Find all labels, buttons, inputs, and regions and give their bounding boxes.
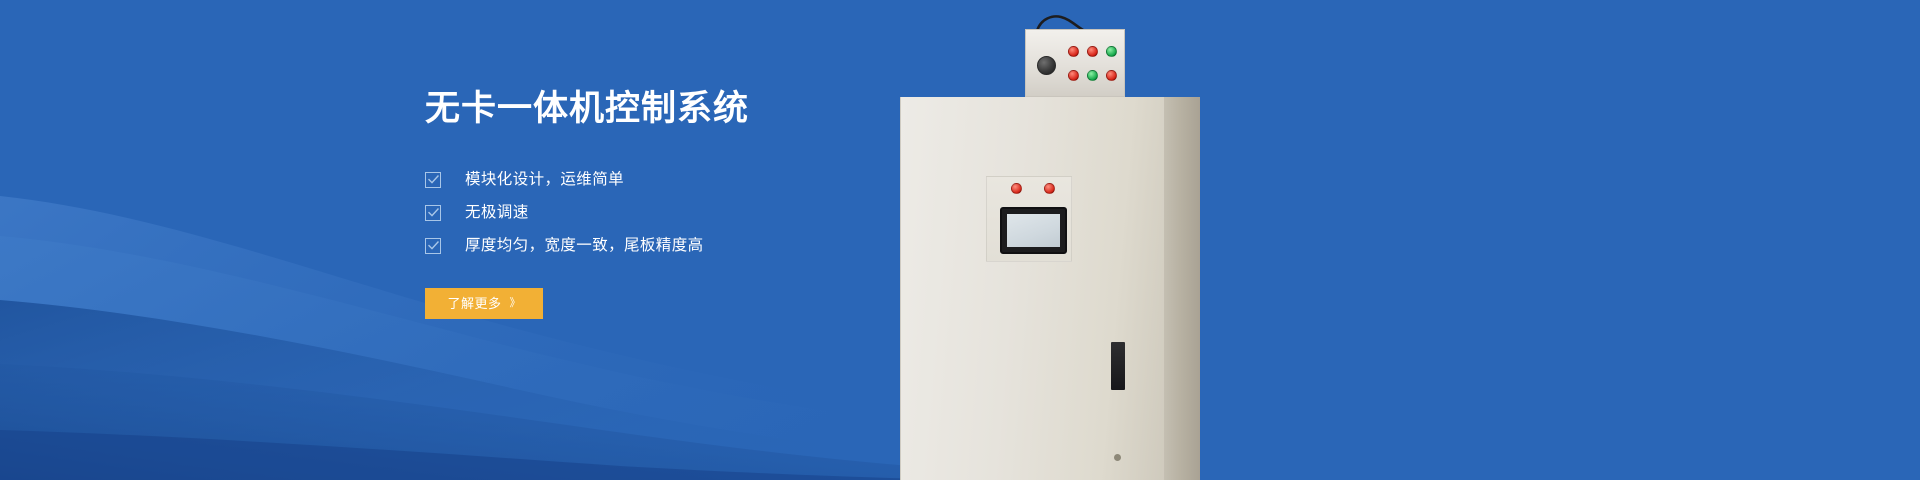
feature-list: 模块化设计，运维简单 无极调速 厚度均匀，宽度一致，尾板精度高 (425, 163, 1125, 262)
operator-head-unit (1025, 29, 1125, 97)
indicator-lamp-green-1[interactable] (1106, 46, 1117, 57)
learn-more-label: 了解更多 (447, 297, 501, 310)
feature-label: 无极调速 (465, 205, 529, 221)
vent-slot (1111, 342, 1125, 390)
cabinet-lock-icon[interactable] (1114, 454, 1121, 461)
hero-content: 无卡一体机控制系统 模块化设计，运维简单 无极调速 (425, 88, 1125, 319)
checkbox-check-icon (425, 238, 441, 254)
indicator-lamp-red-4[interactable] (1106, 70, 1117, 81)
list-item: 厚度均匀，宽度一致，尾板精度高 (425, 229, 1125, 262)
chevron-right-icon: 》 (510, 298, 521, 309)
feature-label: 模块化设计，运维简单 (465, 172, 624, 188)
hero-banner: 无卡一体机控制系统 模块化设计，运维简单 无极调速 (0, 0, 1920, 480)
cta-wrapper: 了解更多 》 (425, 288, 1125, 319)
rotary-selector-knob[interactable] (1037, 56, 1056, 75)
page-title: 无卡一体机控制系统 (425, 88, 1125, 130)
checkbox-check-icon (425, 205, 441, 221)
checkbox-check-icon (425, 172, 441, 188)
list-item: 无极调速 (425, 196, 1125, 229)
indicator-lamp-red-2[interactable] (1087, 46, 1098, 57)
indicator-lamp-red-1[interactable] (1068, 46, 1079, 57)
indicator-lamp-red-3[interactable] (1068, 70, 1079, 81)
cabinet-side-panel (1164, 97, 1200, 480)
indicator-lamp-green-2[interactable] (1087, 70, 1098, 81)
list-item: 模块化设计，运维简单 (425, 163, 1125, 196)
feature-label: 厚度均匀，宽度一致，尾板精度高 (465, 238, 704, 254)
learn-more-button[interactable]: 了解更多 》 (425, 288, 543, 319)
